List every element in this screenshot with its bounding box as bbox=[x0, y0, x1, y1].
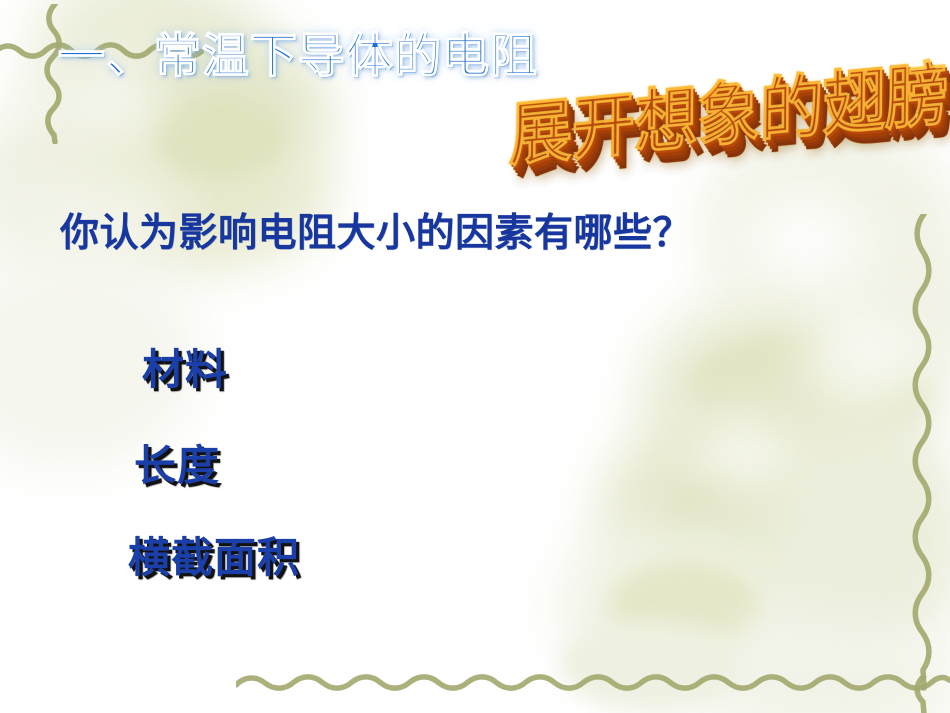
wordart-banner: 展开想象的翅膀 bbox=[500, 50, 909, 200]
factor-item-length: 长度 bbox=[134, 432, 220, 493]
wordart-text: 展开想象的翅膀 bbox=[508, 42, 907, 180]
factor-item-cross-section-area: 横截面积 bbox=[128, 524, 300, 585]
slide-title: 一、常温下导体的电阻 bbox=[58, 30, 538, 84]
wavy-line-vertical-corner bbox=[909, 676, 939, 713]
factor-item-material: 材料 bbox=[142, 336, 228, 397]
question-text: 你认为影响电阻大小的因素有哪些？ bbox=[60, 212, 692, 257]
wavy-line-horizontal-bottom bbox=[236, 668, 950, 698]
wavy-line-vertical-right bbox=[909, 214, 939, 692]
slide-canvas: 一、常温下导体的电阻 展开想象的翅膀 你认为影响电阻大小的因素有哪些？ 材料 长… bbox=[0, 0, 950, 713]
